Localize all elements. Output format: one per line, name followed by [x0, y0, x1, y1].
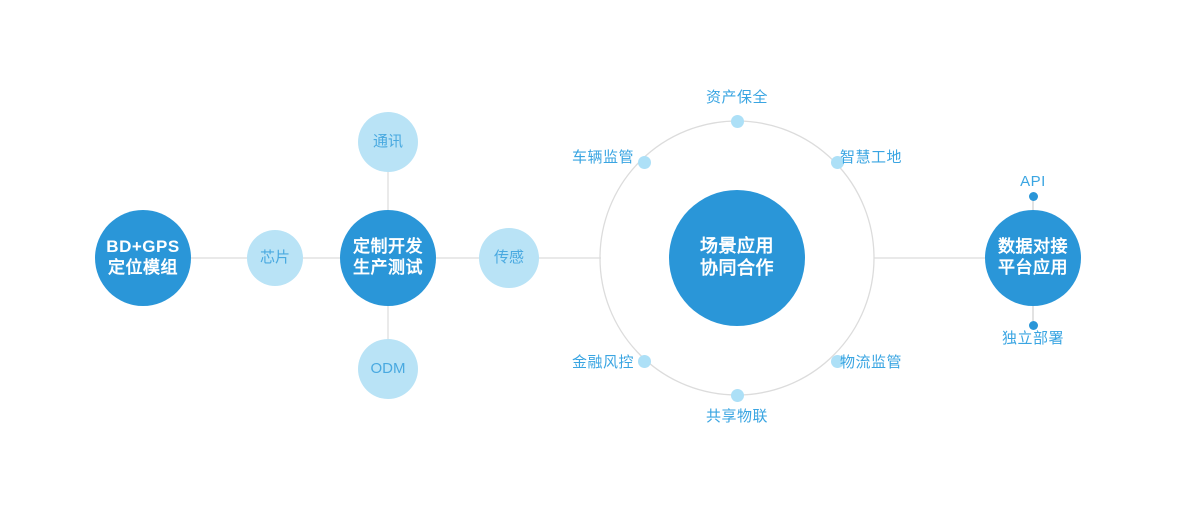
- ring-label-smartsite[interactable]: 智慧工地: [840, 146, 902, 167]
- ring-label-iot[interactable]: 共享物联: [687, 405, 787, 426]
- platform-dot-api[interactable]: [1029, 192, 1038, 201]
- node-label-line1: 场景应用: [700, 236, 774, 258]
- node-communication[interactable]: 通讯: [358, 112, 418, 172]
- ring-label-vehicle[interactable]: 车辆监管: [534, 146, 634, 167]
- node-bd-gps-module[interactable]: BD+GPS 定位模组: [95, 210, 191, 306]
- node-label-line1: 传感: [494, 249, 524, 267]
- node-label-line2: 生产测试: [353, 258, 423, 279]
- node-odm[interactable]: ODM: [358, 339, 418, 399]
- node-label-line1: 芯片: [260, 249, 290, 267]
- ring-dot-asset[interactable]: [731, 115, 744, 128]
- node-label-line2: 协同合作: [700, 258, 774, 280]
- node-label-line1: 数据对接: [998, 237, 1068, 258]
- platform-label-api[interactable]: API: [983, 173, 1083, 190]
- ring-dot-iot[interactable]: [731, 389, 744, 402]
- node-label-line2: 平台应用: [998, 258, 1068, 279]
- node-label-line1: 通讯: [373, 133, 403, 151]
- node-label-line2: 定位模组: [108, 258, 178, 279]
- node-label-line1: ODM: [371, 360, 406, 378]
- platform-label-standalone[interactable]: 独立部署: [983, 327, 1083, 348]
- ring-label-finance[interactable]: 金融风控: [534, 351, 634, 372]
- ring-dot-vehicle[interactable]: [638, 156, 651, 169]
- node-sensor[interactable]: 传感: [479, 228, 539, 288]
- node-scenario-hub[interactable]: 场景应用 协同合作: [669, 190, 805, 326]
- node-label-line1: 定制开发: [353, 237, 423, 258]
- node-data-platform[interactable]: 数据对接 平台应用: [985, 210, 1081, 306]
- ring-label-logistics[interactable]: 物流监管: [840, 351, 902, 372]
- node-custom-development[interactable]: 定制开发 生产测试: [340, 210, 436, 306]
- node-chip[interactable]: 芯片: [247, 230, 303, 286]
- ring-dot-finance[interactable]: [638, 355, 651, 368]
- node-label-line1: BD+GPS: [106, 237, 179, 258]
- diagram-canvas: BD+GPS 定位模组 芯片 通讯 定制开发 生产测试 ODM 传感 场景应用 …: [0, 0, 1200, 518]
- ring-label-asset[interactable]: 资产保全: [687, 86, 787, 107]
